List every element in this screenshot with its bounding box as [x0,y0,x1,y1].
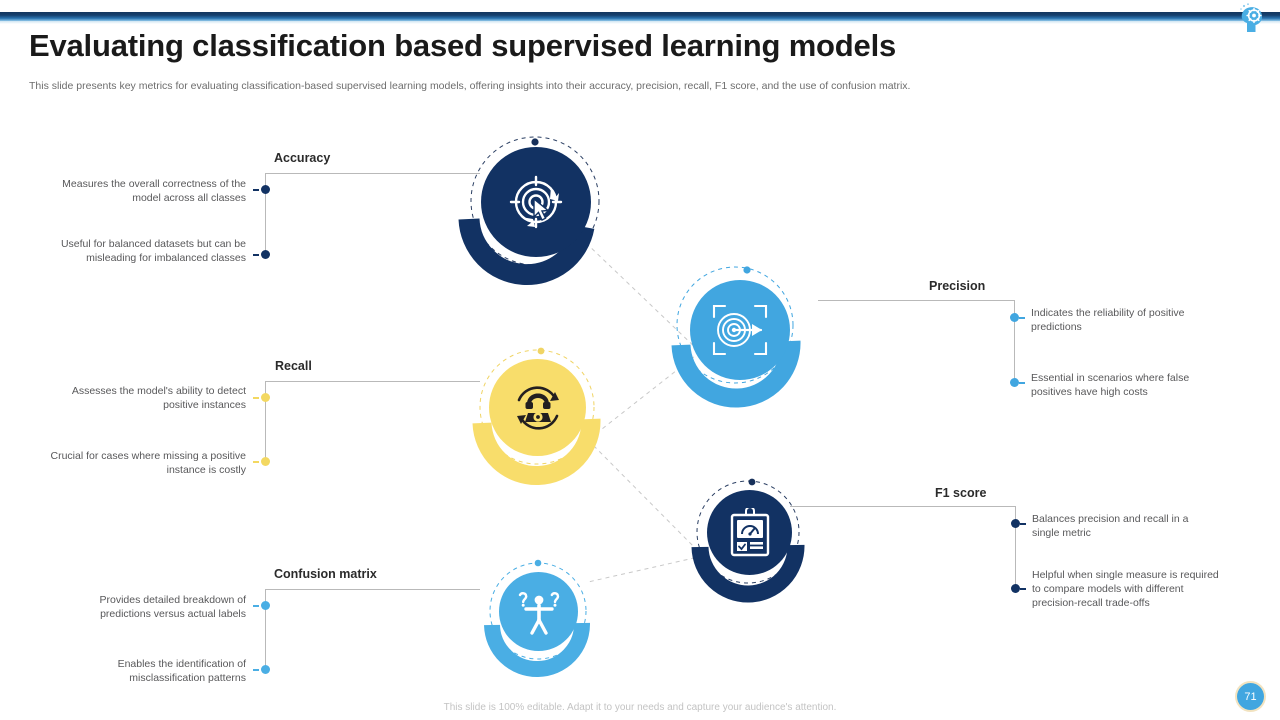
recall-branch-hline [265,381,480,382]
recall-point-1: Assesses the model's ability to detect p… [46,384,246,412]
precision-bullet-tick-1 [1019,317,1025,319]
accuracy-bullet-tick-2 [253,254,259,256]
section-label-f1-score: F1 score [935,486,986,500]
person-question-marks-icon [514,589,564,635]
f1-bullet-dot-1 [1011,519,1020,528]
precision-point-2: Essential in scenarios where false posit… [1031,371,1221,399]
page-subtitle: This slide presents key metrics for eval… [29,80,910,92]
confusion-bullet-tick-1 [253,605,259,607]
telephone-refresh-icon [511,382,565,434]
confusion-point-2: Enables the identification of misclassif… [46,657,246,685]
confusion-bullet-tick-2 [253,669,259,671]
confusion-icon-disc [499,572,578,651]
f1-point-2: Helpful when single measure is required … [1032,568,1222,610]
recall-bullet-dot-1 [261,393,270,402]
footer-note: This slide is 100% editable. Adapt it to… [0,702,1280,713]
accuracy-point-1: Measures the overall correctness of the … [46,177,246,205]
confusion-point-1: Provides detailed breakdown of predictio… [46,593,246,621]
node-confusion-matrix[interactable] [486,561,596,671]
recall-point-2: Crucial for cases where missing a positi… [46,449,246,477]
f1-bullet-tick-2 [1020,588,1026,590]
accuracy-branch-hline [265,173,480,174]
accuracy-point-2: Useful for balanced datasets but can be … [46,237,246,265]
page-number-badge: 71 [1237,683,1264,710]
node-accuracy[interactable] [455,133,605,283]
section-label-recall: Recall [275,359,312,373]
ai-head-gear-icon [1236,2,1272,38]
confusion-bullet-dot-1 [261,601,270,610]
accuracy-icon-disc [481,147,591,257]
f1-icon-disc [707,490,792,575]
recall-bullet-tick-1 [253,397,259,399]
node-f1-score[interactable] [694,477,809,592]
confusion-branch-hline [265,589,480,590]
accuracy-bullet-dot-2 [261,250,270,259]
slide-root: Evaluating classification based supervis… [0,0,1280,720]
top-accent-bar [0,12,1280,21]
target-cursor-icon [505,171,567,233]
precision-bullet-dot-1 [1010,313,1019,322]
f1-branch-hline [790,506,1016,507]
section-label-accuracy: Accuracy [274,151,330,165]
f1-bullet-dot-2 [1011,584,1020,593]
confusion-bullet-dot-2 [261,665,270,674]
f1-point-1: Balances precision and recall in a singl… [1032,512,1217,540]
node-precision[interactable] [673,263,823,388]
top-accent-bar-shadow [0,21,1280,24]
section-label-precision: Precision [929,279,985,293]
accuracy-bullet-tick-1 [253,189,259,191]
accuracy-bullet-dot-1 [261,185,270,194]
precision-point-1: Indicates the reliability of positive pr… [1031,306,1221,334]
precision-branch-hline [818,300,1015,301]
section-label-confusion-matrix: Confusion matrix [274,567,377,581]
f1-bullet-tick-1 [1020,523,1026,525]
page-title: Evaluating classification based supervis… [29,28,896,64]
target-arrow-scan-icon [711,302,769,358]
node-recall[interactable] [475,345,605,470]
precision-bullet-tick-2 [1019,382,1025,384]
clipboard-gauge-icon [726,508,774,558]
precision-icon-disc [690,280,790,380]
recall-bullet-tick-2 [253,461,259,463]
precision-bullet-dot-2 [1010,378,1019,387]
recall-bullet-dot-2 [261,457,270,466]
recall-icon-disc [489,359,586,456]
